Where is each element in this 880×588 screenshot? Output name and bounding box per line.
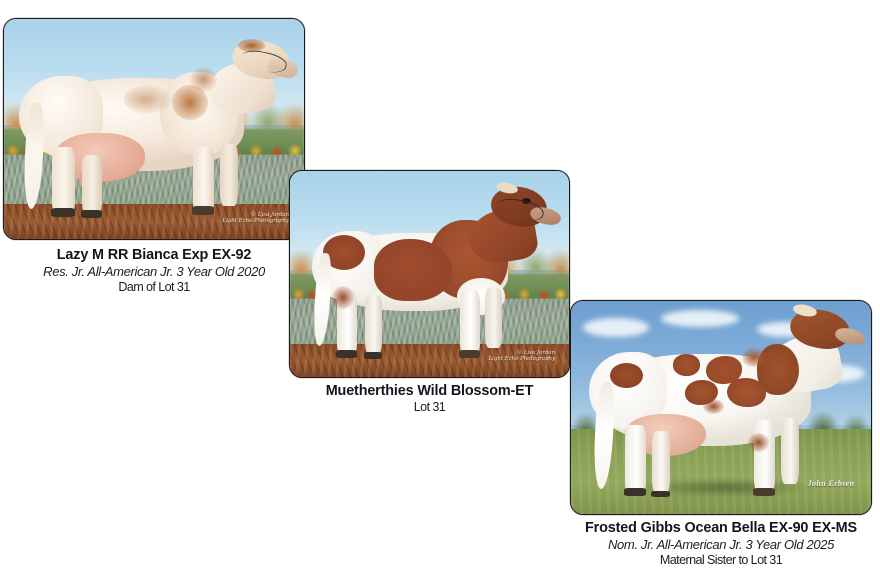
caption-1-name: Lazy M RR Bianca Exp EX-92 (3, 247, 305, 263)
photo-3-image: John Erbsen (570, 300, 872, 515)
cow-1-leg-rear2 (82, 155, 102, 214)
cow-3-hoof-c (753, 488, 776, 496)
caption-1: Lazy M RR Bianca Exp EX-92 Res. Jr. All-… (3, 247, 305, 294)
photo-1-image: © Lisa JordanLight Echo Photography (3, 18, 305, 240)
cow-2-leg-front (460, 290, 480, 354)
caption-3: Frosted Gibbs Ocean Bella EX-90 EX-MS No… (562, 520, 880, 567)
cow-3-spot-6 (742, 348, 766, 367)
cow-3-spot-5 (610, 363, 643, 389)
cow-2-leg-rear2 (365, 295, 382, 355)
cow-2-hoof-b (364, 352, 382, 359)
page-root: © Lisa JordanLight Echo Photography Lazy… (0, 0, 880, 588)
cow-1-leg-front (193, 147, 214, 213)
cow-1-hoof-a (51, 208, 75, 217)
cow-1-leg-rear (52, 147, 75, 213)
cow-1-leg-front2 (220, 144, 238, 206)
cow-2-hoof-c (459, 350, 480, 358)
cow-1-marking-b (124, 85, 172, 114)
cow-1-marking-c (190, 67, 217, 91)
cow-3-leg-front2 (781, 418, 799, 484)
cow-3-spot-4 (673, 354, 700, 375)
photo-2-credit: © Lisa JordanLight Echo Photography (489, 351, 555, 362)
photo-1-credit: © Lisa JordanLight Echo Photography (223, 213, 289, 224)
photo-2-image: © Lisa JordanLight Echo Photography (289, 170, 570, 378)
photo-card-3[interactable]: John Erbsen (570, 300, 872, 515)
cow-3-leg-rear (625, 425, 646, 493)
cow-3-hoof-a (624, 488, 647, 496)
caption-2-relation: Lot 31 (289, 400, 570, 414)
caption-3-award: Nom. Jr. All-American Jr. 3 Year Old 202… (562, 537, 880, 552)
cow-2-barrel-patch (374, 239, 452, 301)
cow-2-leg-front2 (485, 288, 502, 348)
cow-2-hoof-a (336, 350, 357, 358)
cow-1-hoof-b (81, 210, 102, 218)
caption-1-relation: Dam of Lot 31 (3, 280, 305, 294)
photo-3-credit: John Erbsen (808, 479, 855, 488)
caption-2-name: Muetherthies Wild Blossom-ET (289, 383, 570, 399)
caption-2: Muetherthies Wild Blossom-ET Lot 31 (289, 383, 570, 414)
cow-1-hoof-c (192, 206, 215, 215)
cloud-2 (661, 310, 739, 327)
photo-card-1[interactable]: © Lisa JordanLight Echo Photography (3, 18, 305, 240)
cow-3-spot-7 (703, 399, 724, 414)
cow-3-hoof-b (651, 491, 671, 498)
caption-3-relation: Maternal Sister to Lot 31 (562, 553, 880, 567)
cow-2-leg-patch (332, 286, 354, 309)
cow-3-leg-front (754, 420, 775, 490)
caption-1-award: Res. Jr. All-American Jr. 3 Year Old 202… (3, 264, 305, 279)
cow-3-spot-2 (727, 378, 766, 408)
cow-3-leg-rear2 (652, 431, 670, 493)
photo-card-2[interactable]: © Lisa JordanLight Echo Photography (289, 170, 570, 378)
caption-3-name: Frosted Gibbs Ocean Bella EX-90 EX-MS (562, 520, 880, 536)
